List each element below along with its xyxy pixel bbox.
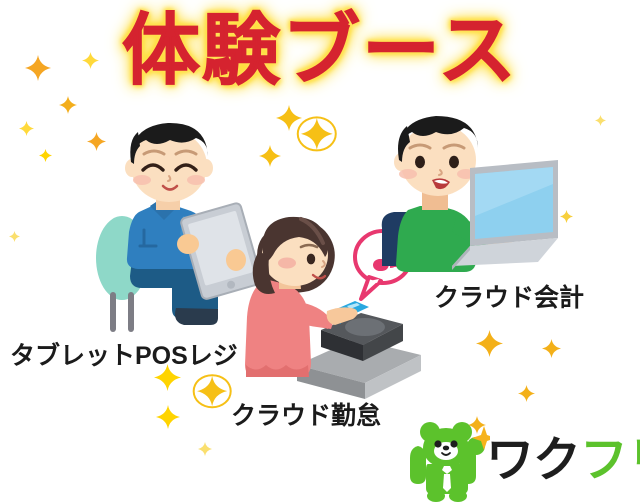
illustration-man-with-laptop [378,106,563,284]
logo-text-dark: ワク [486,434,580,487]
sparkle-icon [191,370,233,412]
illustration-man-with-tablet [84,112,269,332]
page-title: 体験ブース [0,4,640,96]
logo-wordmark: ワクフリ [486,436,640,486]
sparkle-ring-icon [297,116,337,151]
bear-mascot-icon [404,418,490,502]
sparkle-icon [518,385,535,402]
label-tablet-pos: タブレットPOSレジ [10,336,238,372]
brand-logo[interactable]: ワクフリ [404,416,640,502]
poster-canvas: 体験ブース [0,0,640,502]
sparkle-icon [542,339,561,358]
label-cloud-accounting: クラウド会計 [434,278,584,314]
sparkle-ring-icon [193,374,232,408]
sparkle-icon [59,96,77,114]
label-cloud-attendance: クラウド勤怠 [231,396,381,432]
sparkle-icon [198,442,212,456]
sparkle-icon [156,405,180,429]
sparkle-icon [476,330,503,357]
sparkle-icon [9,231,20,242]
sparkle-icon [295,112,339,156]
sparkle-icon [39,149,52,162]
sparkle-icon [19,121,34,136]
sparkle-icon [276,105,302,131]
sparkle-icon [595,115,606,126]
logo-text-green: フリ [580,434,640,487]
